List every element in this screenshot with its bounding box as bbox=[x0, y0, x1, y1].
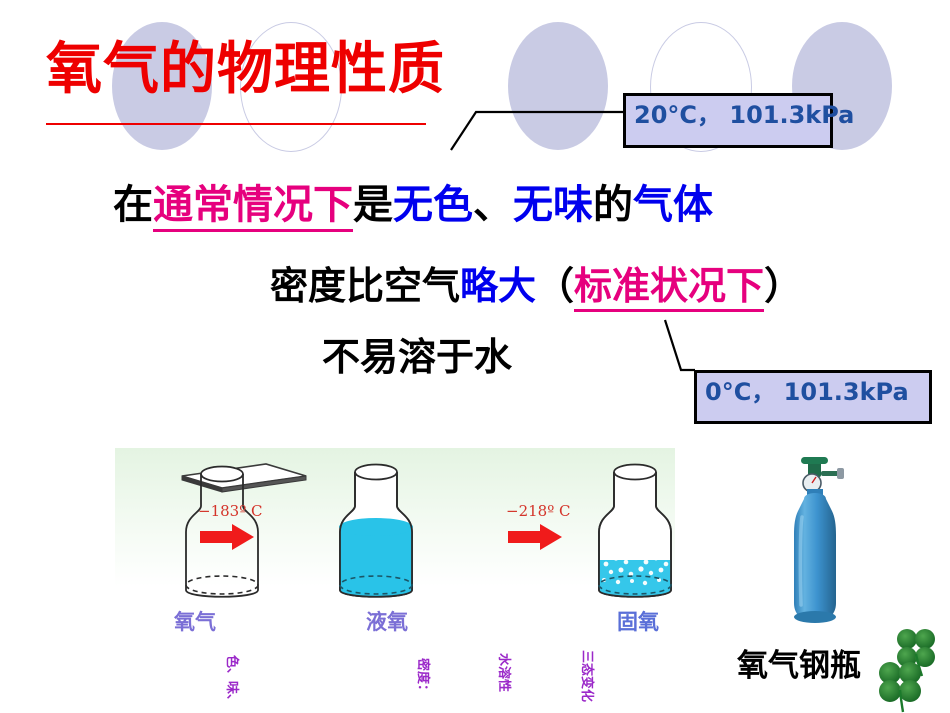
callout-conditions-normal: 20°C， 101.3kPa bbox=[623, 93, 833, 148]
callout-conditions-standard-text: 0°C， 101.3kPa bbox=[705, 377, 950, 407]
cylinder-base bbox=[794, 611, 836, 623]
line1-seg-2: 通常情况下 bbox=[153, 182, 353, 232]
title-underline bbox=[46, 123, 426, 125]
jar-label-gas: 氧气 bbox=[174, 606, 216, 636]
line1-seg-1: 在 bbox=[113, 182, 153, 228]
callout-conditions-normal-text: 20°C， 101.3kPa bbox=[634, 100, 894, 130]
line2-seg-1: 密度比空气 bbox=[270, 264, 460, 308]
jar-label-solid: 固氧 bbox=[617, 606, 659, 636]
line1-seg-7: 的 bbox=[593, 182, 633, 228]
decor-oval-filled-2 bbox=[508, 22, 608, 150]
text-line-2: 密度比空气略大（标准状况下） bbox=[270, 267, 802, 305]
vertical-label-color-taste: 色、味、 bbox=[224, 655, 243, 707]
line1-seg-4: 无色 bbox=[393, 182, 473, 228]
liquid-oxygen-fill bbox=[333, 527, 463, 602]
callout-conditions-standard: 0°C， 101.3kPa bbox=[694, 370, 932, 424]
arrow-right-icon-2 bbox=[508, 524, 564, 550]
line2-seg-3: （ bbox=[536, 264, 574, 308]
clover-lower bbox=[879, 662, 921, 712]
slide-canvas: 氧气的物理性质 在通常情况下是无色、无味的气体 密度比空气略大（标准状况下） 不… bbox=[0, 0, 950, 713]
page-title: 氧气的物理性质 bbox=[46, 42, 445, 98]
line1-seg-8: 气体 bbox=[633, 182, 713, 228]
jar-solid bbox=[592, 452, 722, 602]
line2-seg-4: 标准状况下 bbox=[574, 264, 764, 312]
line1-seg-6: 无味 bbox=[513, 182, 593, 228]
jar-liquid bbox=[333, 452, 463, 602]
jar-label-liquid: 液氧 bbox=[366, 606, 408, 636]
line1-seg-3: 是 bbox=[353, 182, 393, 228]
clover-decoration bbox=[872, 624, 950, 713]
leader-line-normal-conditions bbox=[451, 112, 624, 150]
line3-seg-1: 不易溶于水 bbox=[322, 335, 512, 379]
transition-arrow-2: −218º C bbox=[506, 502, 586, 558]
vertical-label-density: 密度： bbox=[415, 658, 434, 697]
oxygen-cylinder-image bbox=[775, 455, 855, 630]
text-line-3: 不易溶于水 bbox=[322, 338, 512, 376]
transition-arrow-1: −183º C bbox=[198, 502, 278, 558]
line2-seg-2: 略大 bbox=[460, 264, 536, 308]
vertical-label-solubility: 水溶性 bbox=[496, 653, 515, 692]
transition-temperature-2: −218º C bbox=[506, 502, 571, 520]
cylinder-label: 氧气钢瓶 bbox=[737, 640, 861, 685]
arrow-right-icon-1 bbox=[200, 524, 256, 550]
text-line-1: 在通常情况下是无色、无味的气体 bbox=[113, 185, 713, 225]
line2-seg-5: ） bbox=[764, 264, 802, 308]
leader-line-standard-conditions bbox=[665, 320, 695, 370]
line1-seg-5: 、 bbox=[473, 182, 513, 228]
vertical-label-state-change: 三态变化 bbox=[579, 650, 598, 702]
transition-temperature-1: −183º C bbox=[198, 502, 263, 520]
